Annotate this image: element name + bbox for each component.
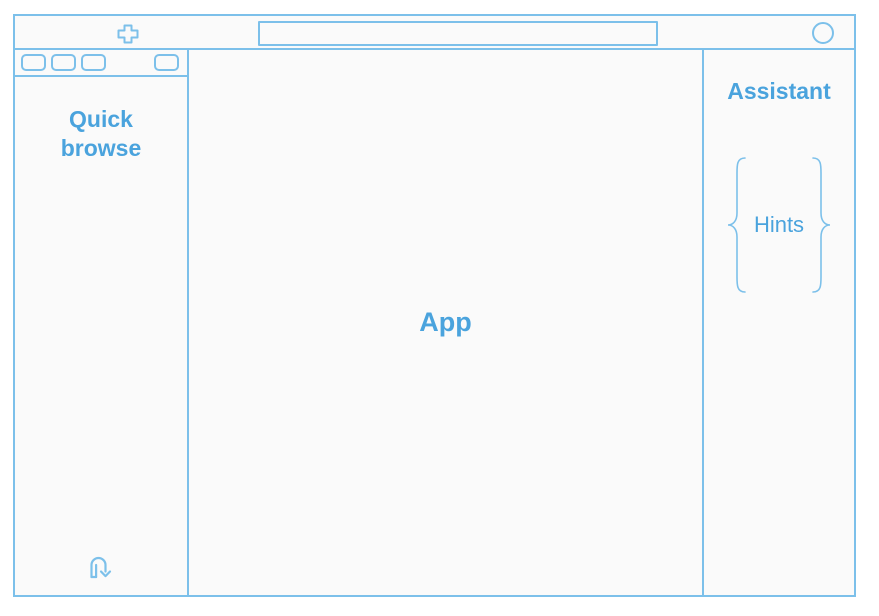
u-turn-arrow-icon	[84, 551, 118, 583]
account-avatar-button[interactable]	[812, 22, 834, 44]
history-button[interactable]	[84, 551, 118, 583]
wireframe-window: Quick browse App Assistant	[13, 14, 856, 597]
tab-chip-1[interactable]	[21, 54, 46, 71]
window-body: Quick browse App Assistant	[15, 50, 854, 595]
plus-icon	[115, 23, 141, 45]
add-button[interactable]	[115, 23, 141, 45]
sidebar-tab-bar	[15, 50, 187, 77]
right-curly-brace-icon	[808, 155, 834, 295]
sidebar-content: Quick browse	[15, 77, 187, 595]
search-input[interactable]	[258, 21, 658, 46]
app-label: App	[419, 307, 471, 338]
tab-chip-3[interactable]	[81, 54, 106, 71]
tab-chip-4[interactable]	[154, 54, 179, 71]
hints-block: Hints	[724, 155, 834, 295]
left-curly-brace-icon	[724, 155, 750, 295]
quick-browse-title: Quick browse	[31, 105, 171, 163]
hints-label: Hints	[750, 212, 808, 238]
app-canvas[interactable]: App	[189, 50, 704, 595]
assistant-panel: Assistant Hints	[704, 50, 854, 595]
header-bar	[15, 16, 854, 50]
assistant-title: Assistant	[727, 78, 831, 105]
sidebar: Quick browse	[15, 50, 189, 595]
tab-chip-2[interactable]	[51, 54, 76, 71]
